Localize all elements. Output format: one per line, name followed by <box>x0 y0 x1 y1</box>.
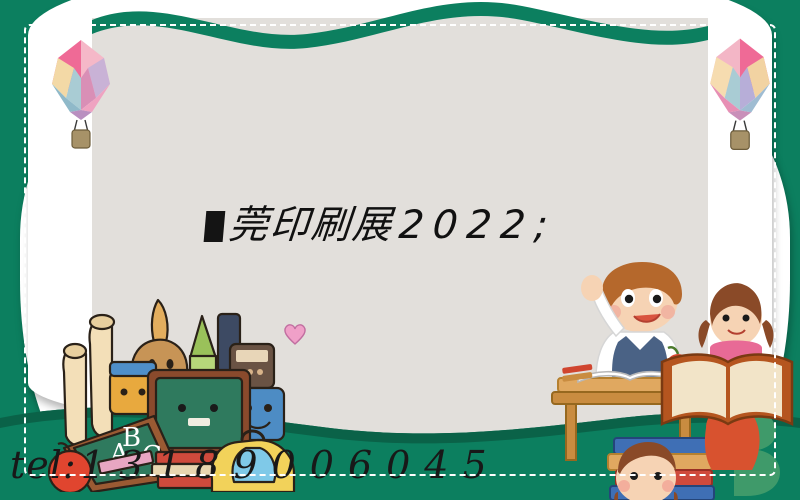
page-title: 莞印刷展2022; <box>203 203 558 249</box>
heart-icon <box>282 322 308 346</box>
poster-canvas: 莞印刷展2022; <box>0 0 800 500</box>
page-title-chinese: 莞印刷展 <box>227 203 395 248</box>
contact-label: tel: <box>10 443 77 487</box>
contact-number: 13189006045 <box>81 443 501 487</box>
children-studying-illustration <box>530 262 800 500</box>
card-top-wave <box>92 0 708 60</box>
hot-air-balloon-icon-right <box>702 36 778 158</box>
contact-phone: tel:13189006045 <box>10 443 501 487</box>
page-title-year: 2022; <box>397 203 558 248</box>
missing-glyph-box-icon <box>204 211 226 242</box>
hot-air-balloon-icon-left <box>44 38 118 156</box>
